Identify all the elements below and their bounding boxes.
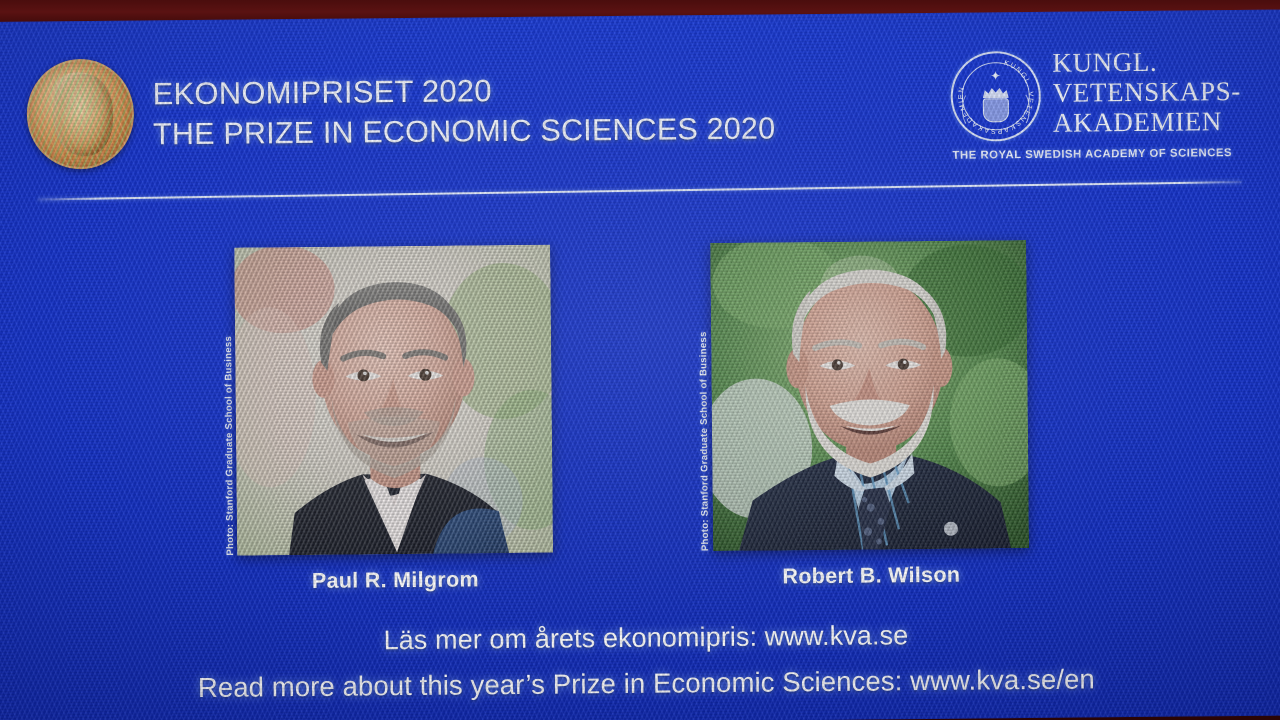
seal-shield-icon <box>983 98 1009 122</box>
academy-name-line-3: AKADEMIEN <box>1053 106 1241 138</box>
seal-laurel-left-icon <box>961 91 979 127</box>
academy-name: KUNGL. VETENSKAPS- AKADEMIEN <box>1052 46 1241 138</box>
medal-rim <box>26 59 134 170</box>
laureate-name-wilson: Robert B. Wilson <box>713 562 1029 590</box>
photo-credit-milgrom: Photo: Stanford Graduate School of Busin… <box>217 248 236 556</box>
led-display: EKONOMIPRISET 2020 THE PRIZE IN ECONOMIC… <box>0 9 1280 720</box>
header: EKONOMIPRISET 2020 THE PRIZE IN ECONOMIC… <box>0 24 1280 168</box>
page-title: EKONOMIPRISET 2020 THE PRIZE IN ECONOMIC… <box>153 68 776 154</box>
presentation-screen-scene: EKONOMIPRISET 2020 THE PRIZE IN ECONOMIC… <box>0 0 1280 720</box>
footer: Läs mer om årets ekonomipris: www.kva.se… <box>6 610 1280 712</box>
academy-name-line-2: VETENSKAPS- <box>1053 76 1241 108</box>
laureate-card-milgrom: Photo: Stanford Graduate School of Busin… <box>234 245 553 556</box>
academy-subtitle: THE ROYAL SWEDISH ACADEMY OF SCIENCES <box>949 147 1235 162</box>
portrait-paul-milgrom <box>234 245 553 556</box>
portrait-robert-wilson <box>710 240 1029 551</box>
title-line-swedish: EKONOMIPRISET 2020 <box>153 68 776 114</box>
photo-credit-wilson: Photo: Stanford Graduate School of Busin… <box>692 243 711 551</box>
title-line-english: THE PRIZE IN ECONOMIC SCIENCES 2020 <box>153 108 776 154</box>
nobel-medal-icon <box>26 59 134 170</box>
header-divider <box>38 181 1242 200</box>
laureate-name-milgrom: Paul R. Milgrom <box>237 567 553 595</box>
royal-swedish-academy-seal-icon: KUNGL. VETENSKAPSAKADEMIEN ✦ <box>950 51 1041 142</box>
laureate-card-wilson: Photo: Stanford Graduate School of Busin… <box>710 240 1029 551</box>
academy-name-line-1: KUNGL. <box>1052 46 1240 78</box>
academy-logo: KUNGL. VETENSKAPSAKADEMIEN ✦ KUNGL. VETE… <box>976 46 1235 168</box>
seal-star-icon: ✦ <box>990 70 1001 83</box>
